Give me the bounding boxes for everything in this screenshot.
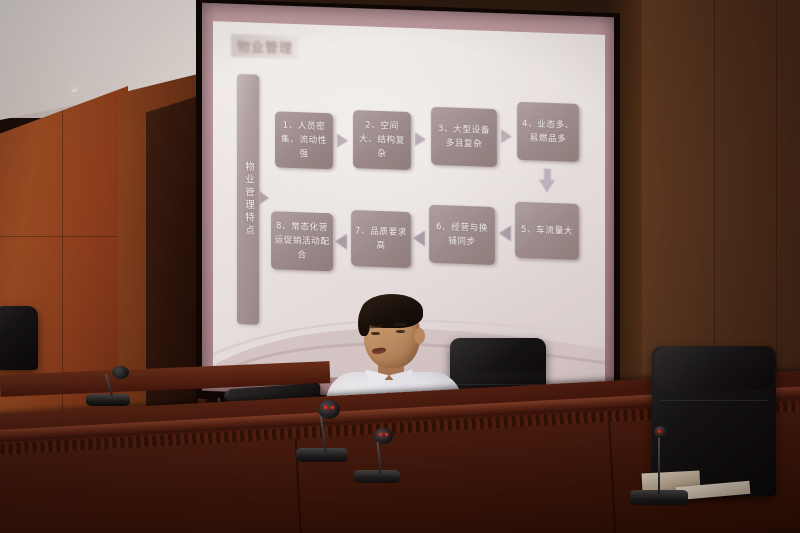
arrow-right-icon: [415, 132, 426, 146]
arrow-right-icon: [259, 191, 269, 205]
arrow-right-icon: [337, 133, 348, 147]
presenter-eyebrow: [394, 323, 406, 326]
presenter-eye: [396, 330, 405, 333]
arrow-left-icon: [413, 230, 425, 246]
slide-category-bar: 物业管理特点: [237, 74, 259, 325]
slide-title: 物业管理: [231, 34, 299, 59]
ceiling-downlight: [68, 88, 81, 94]
arrow-left-icon: [335, 233, 347, 249]
microphone-led-indicator: [324, 406, 327, 409]
flow-box-8: 8、常态化营运促销活动配合: [271, 211, 333, 271]
microphone-led-indicator: [331, 406, 334, 409]
microphone-led-indicator: [385, 433, 388, 436]
presenter-hair-side: [358, 306, 370, 336]
presenter-ear: [414, 328, 425, 344]
flow-box-4: 4、业态多、易燃品多: [517, 102, 579, 162]
flow-box-6: 6、经营与换铺同步: [429, 205, 495, 265]
arrow-right-icon: [501, 129, 512, 143]
presenter-hair: [361, 294, 423, 328]
microphone-led-indicator: [658, 430, 661, 433]
slide-category-label: 物业管理特点: [241, 161, 255, 238]
flow-box-5: 5、车流量大: [515, 202, 579, 260]
arrow-left-icon: [499, 225, 511, 241]
chair-left: [0, 306, 38, 370]
flow-box-7: 7、品质要求高: [351, 210, 411, 268]
flow-box-3: 3、大型设备多且复杂: [431, 107, 497, 167]
flow-box-1: 1、人员密集、流动性强: [275, 111, 333, 169]
chair-presenter-headrest: [450, 338, 546, 372]
chair-right-headrest: [654, 346, 774, 390]
flow-box-2: 2、空间大、结构复杂: [353, 110, 411, 170]
arrow-down-icon: [539, 180, 555, 194]
microphone-led-indicator: [379, 433, 382, 436]
presenter-eye: [371, 332, 380, 335]
conference-room-photo: 物业管理 物业管理特点 1、人员密集、流动性强 2、空间大、结构复杂 3、大型设…: [0, 0, 800, 533]
chair-crease: [660, 400, 768, 401]
